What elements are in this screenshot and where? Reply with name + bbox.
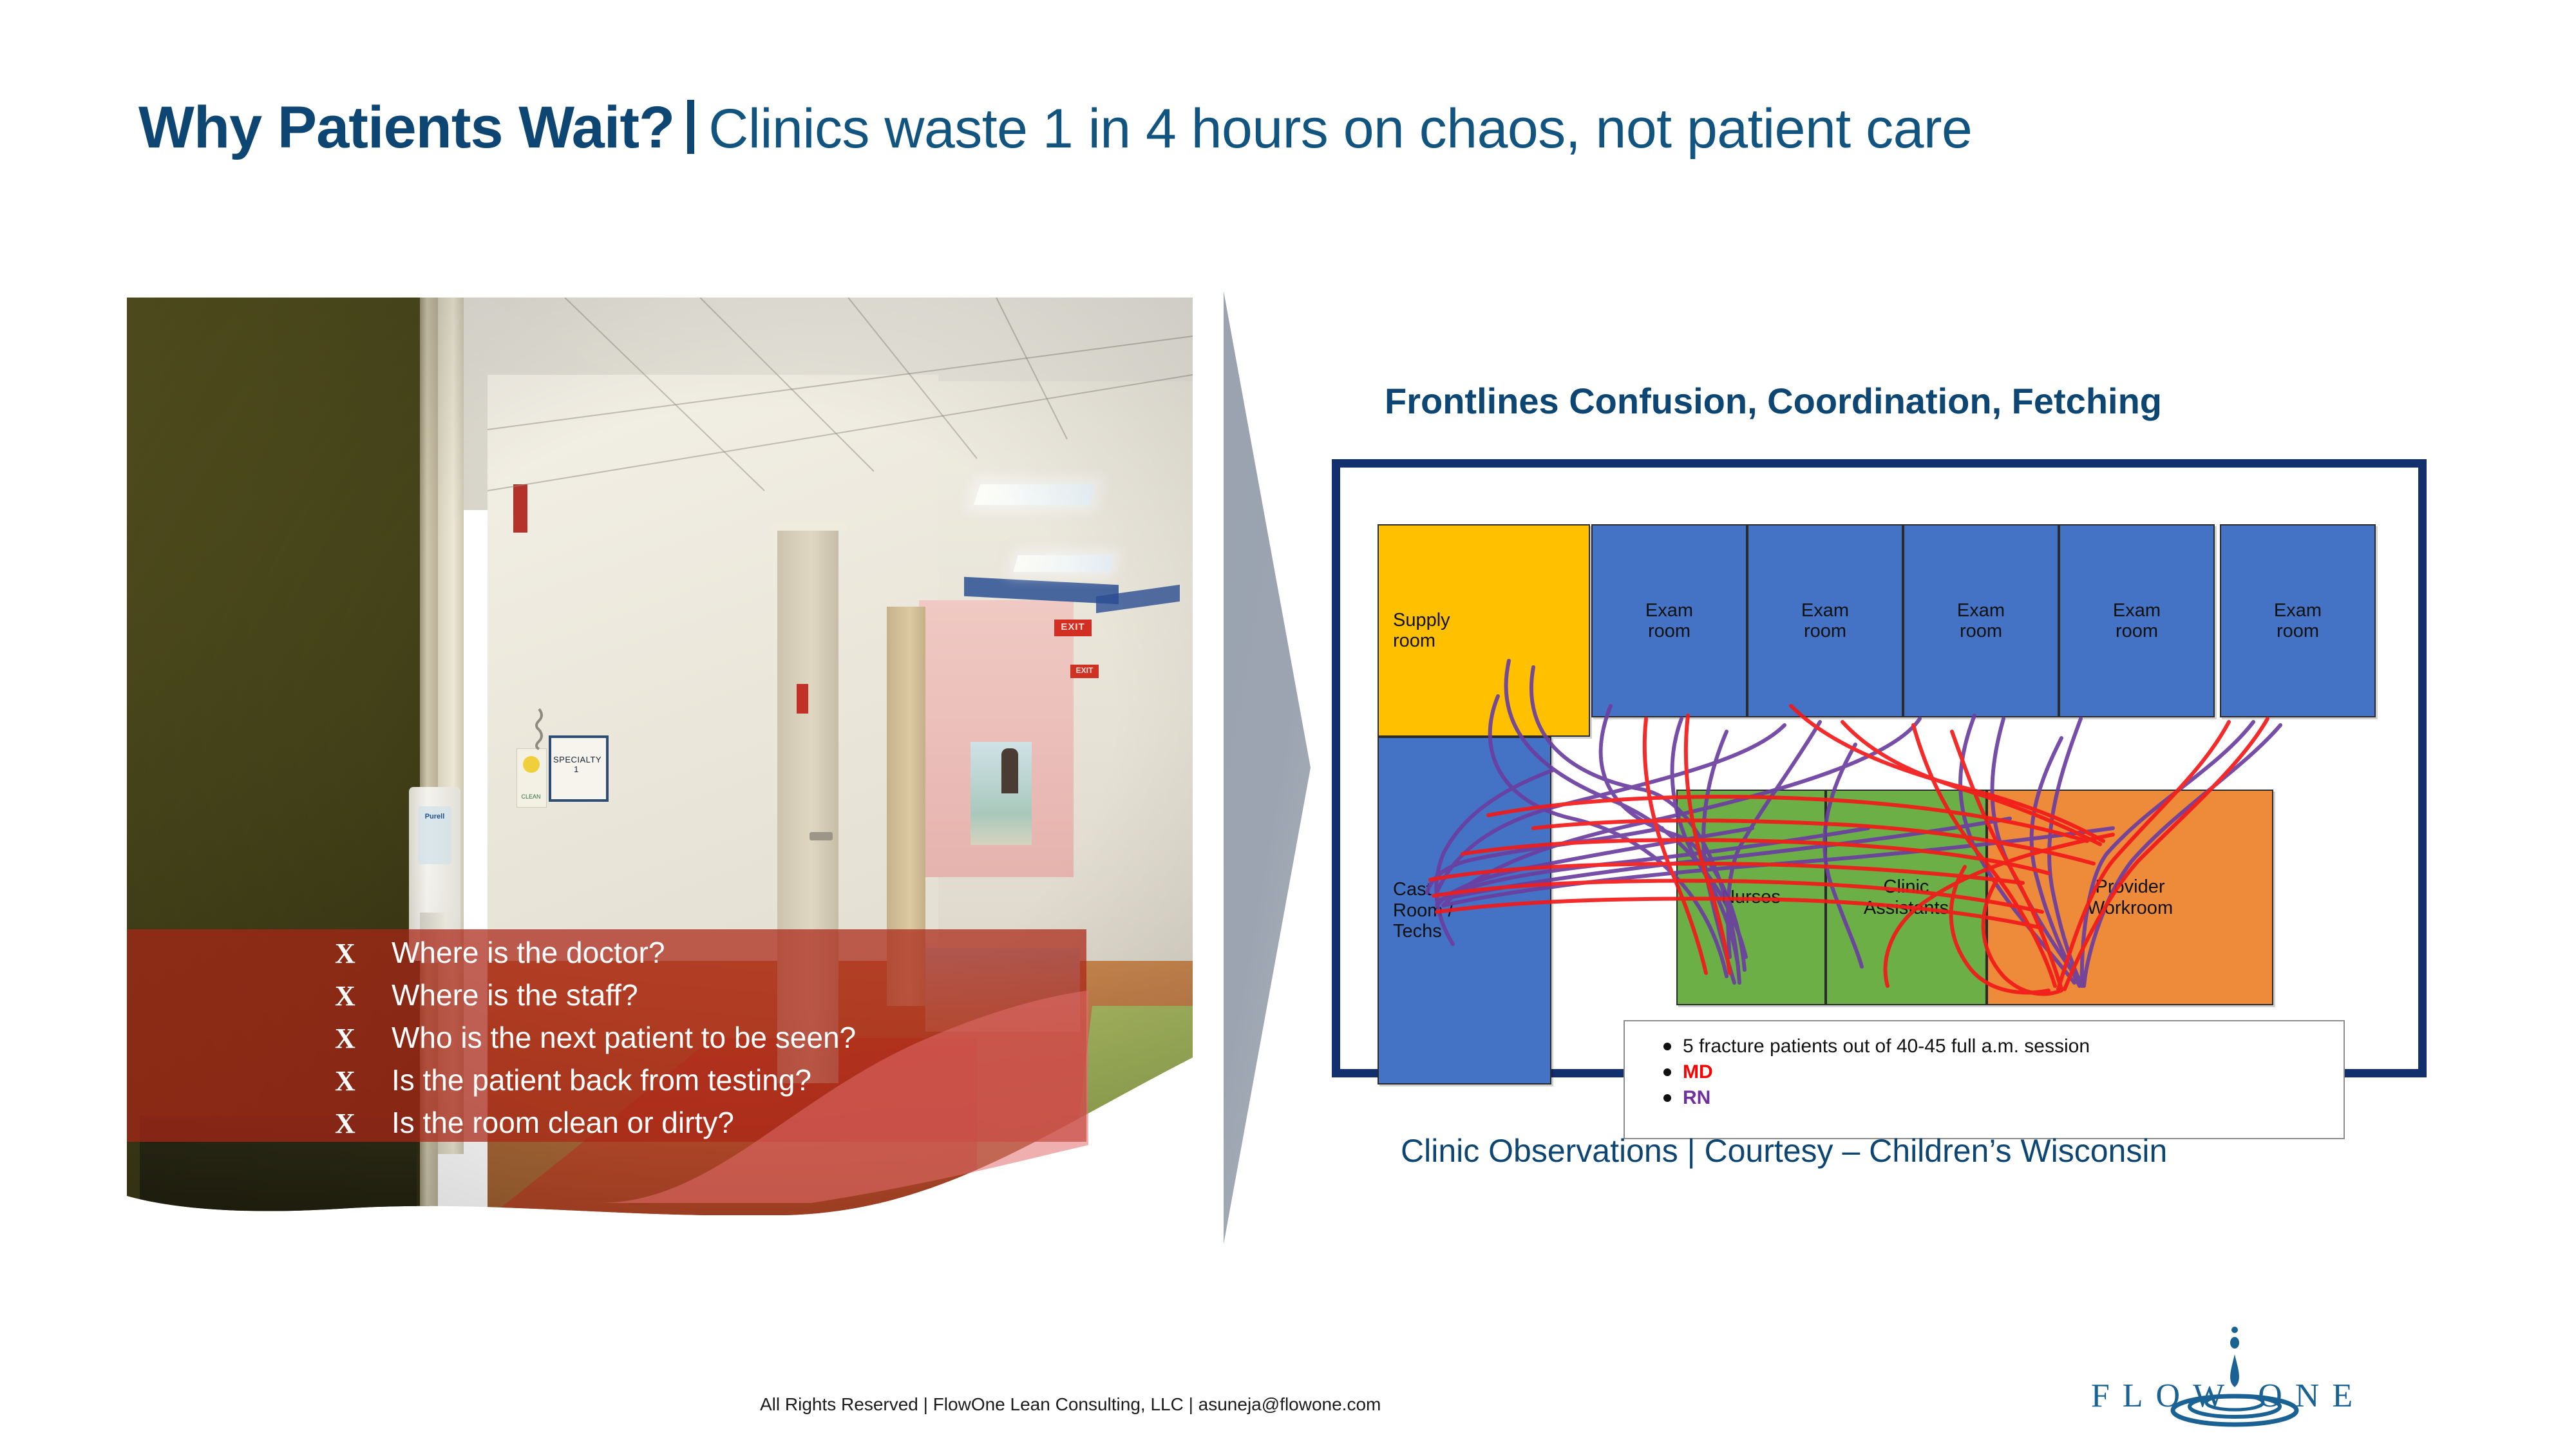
legend-note: 5 fracture patients out of 40-45 full a.… — [1683, 1036, 2090, 1057]
footer-copyright: All Rights Reserved | FlowOne Lean Consu… — [760, 1394, 1533, 1415]
room-exam-4: Exam room — [2059, 524, 2215, 717]
room-exam-2: Exam room — [1747, 524, 1903, 717]
list-item-label: Is the patient back from testing? — [392, 1063, 811, 1097]
room-label: Exam room — [1801, 600, 1849, 642]
page-title: Why Patients Wait? Clinics waste 1 in 4 … — [138, 93, 2392, 184]
list-item: X Is the patient back from testing? — [335, 1063, 1108, 1105]
room-label: Exam room — [2274, 600, 2322, 642]
room-label: Exam room — [1957, 600, 2005, 642]
room-provider-workroom: Provider Workroom — [1987, 790, 2273, 1005]
bullet-dot-icon — [1663, 1094, 1671, 1102]
list-item-label: Is the room clean or dirty? — [392, 1105, 734, 1140]
x-marker-icon: X — [335, 980, 392, 1012]
room-cast: Cast Room / Techs — [1378, 737, 1551, 1084]
x-marker-icon: X — [335, 937, 392, 970]
title-subtitle: Clinics waste 1 in 4 hours on chaos, not… — [708, 97, 1972, 161]
title-strong: Why Patients Wait? — [138, 94, 674, 162]
right-chevron-arrow-icon — [1224, 291, 1311, 1244]
x-marker-icon: X — [335, 1107, 392, 1140]
room-nurses: Nurses — [1676, 790, 1826, 1005]
list-item: X Is the room clean or dirty? — [335, 1105, 1108, 1148]
legend-rn-row: RN — [1663, 1087, 2344, 1109]
room-exam-3: Exam room — [1903, 524, 2059, 717]
list-item: X Who is the next patient to be seen? — [335, 1020, 1108, 1063]
room-exam-1: Exam room — [1591, 524, 1747, 717]
legend-rn-label: RN — [1683, 1087, 1710, 1109]
x-marker-icon: X — [335, 1022, 392, 1055]
room-clinic-assistants: Clinic Assistants — [1826, 790, 1987, 1005]
logo-wordmark: FLOW ONE — [2003, 1377, 2454, 1415]
room-label: Supply room — [1393, 610, 1450, 652]
title-divider — [687, 100, 694, 154]
x-marker-icon: X — [335, 1065, 392, 1097]
legend-md-row: MD — [1663, 1061, 2344, 1083]
list-item-label: Who is the next patient to be seen? — [392, 1020, 856, 1055]
flowone-logo: FLOW ONE — [2003, 1346, 2454, 1430]
bullet-dot-icon — [1663, 1043, 1671, 1050]
room-label: Clinic Assistants — [1864, 876, 1949, 918]
room-label: Exam room — [2113, 600, 2161, 642]
legend-note-row: 5 fracture patients out of 40-45 full a.… — [1663, 1036, 2344, 1057]
room-exam-5: Exam room — [2220, 524, 2376, 717]
room-label: Exam room — [1645, 600, 1693, 642]
diagram-legend: 5 fracture patients out of 40-45 full a.… — [1624, 1020, 2345, 1139]
diagram-caption: Clinic Observations | Courtesy – Childre… — [1401, 1132, 2495, 1170]
list-item-label: Where is the doctor? — [392, 935, 665, 970]
spaghetti-diagram: Supply room Cast Room / Techs Exam room … — [1332, 459, 2427, 1077]
bullet-dot-icon — [1663, 1068, 1671, 1076]
list-item: X Where is the doctor? — [335, 935, 1108, 978]
list-item-label: Where is the staff? — [392, 978, 638, 1012]
room-supply: Supply room — [1378, 524, 1590, 737]
diagram-heading: Frontlines Confusion, Coordination, Fetc… — [1385, 380, 2479, 422]
room-label: Cast Room / Techs — [1393, 879, 1453, 942]
list-item: X Where is the staff? — [335, 978, 1108, 1020]
legend-md-label: MD — [1683, 1061, 1713, 1083]
pain-points-list: X Where is the doctor? X Where is the st… — [335, 935, 1108, 1148]
room-label: Nurses — [1721, 887, 1781, 907]
room-label: Provider Workroom — [2087, 876, 2173, 918]
